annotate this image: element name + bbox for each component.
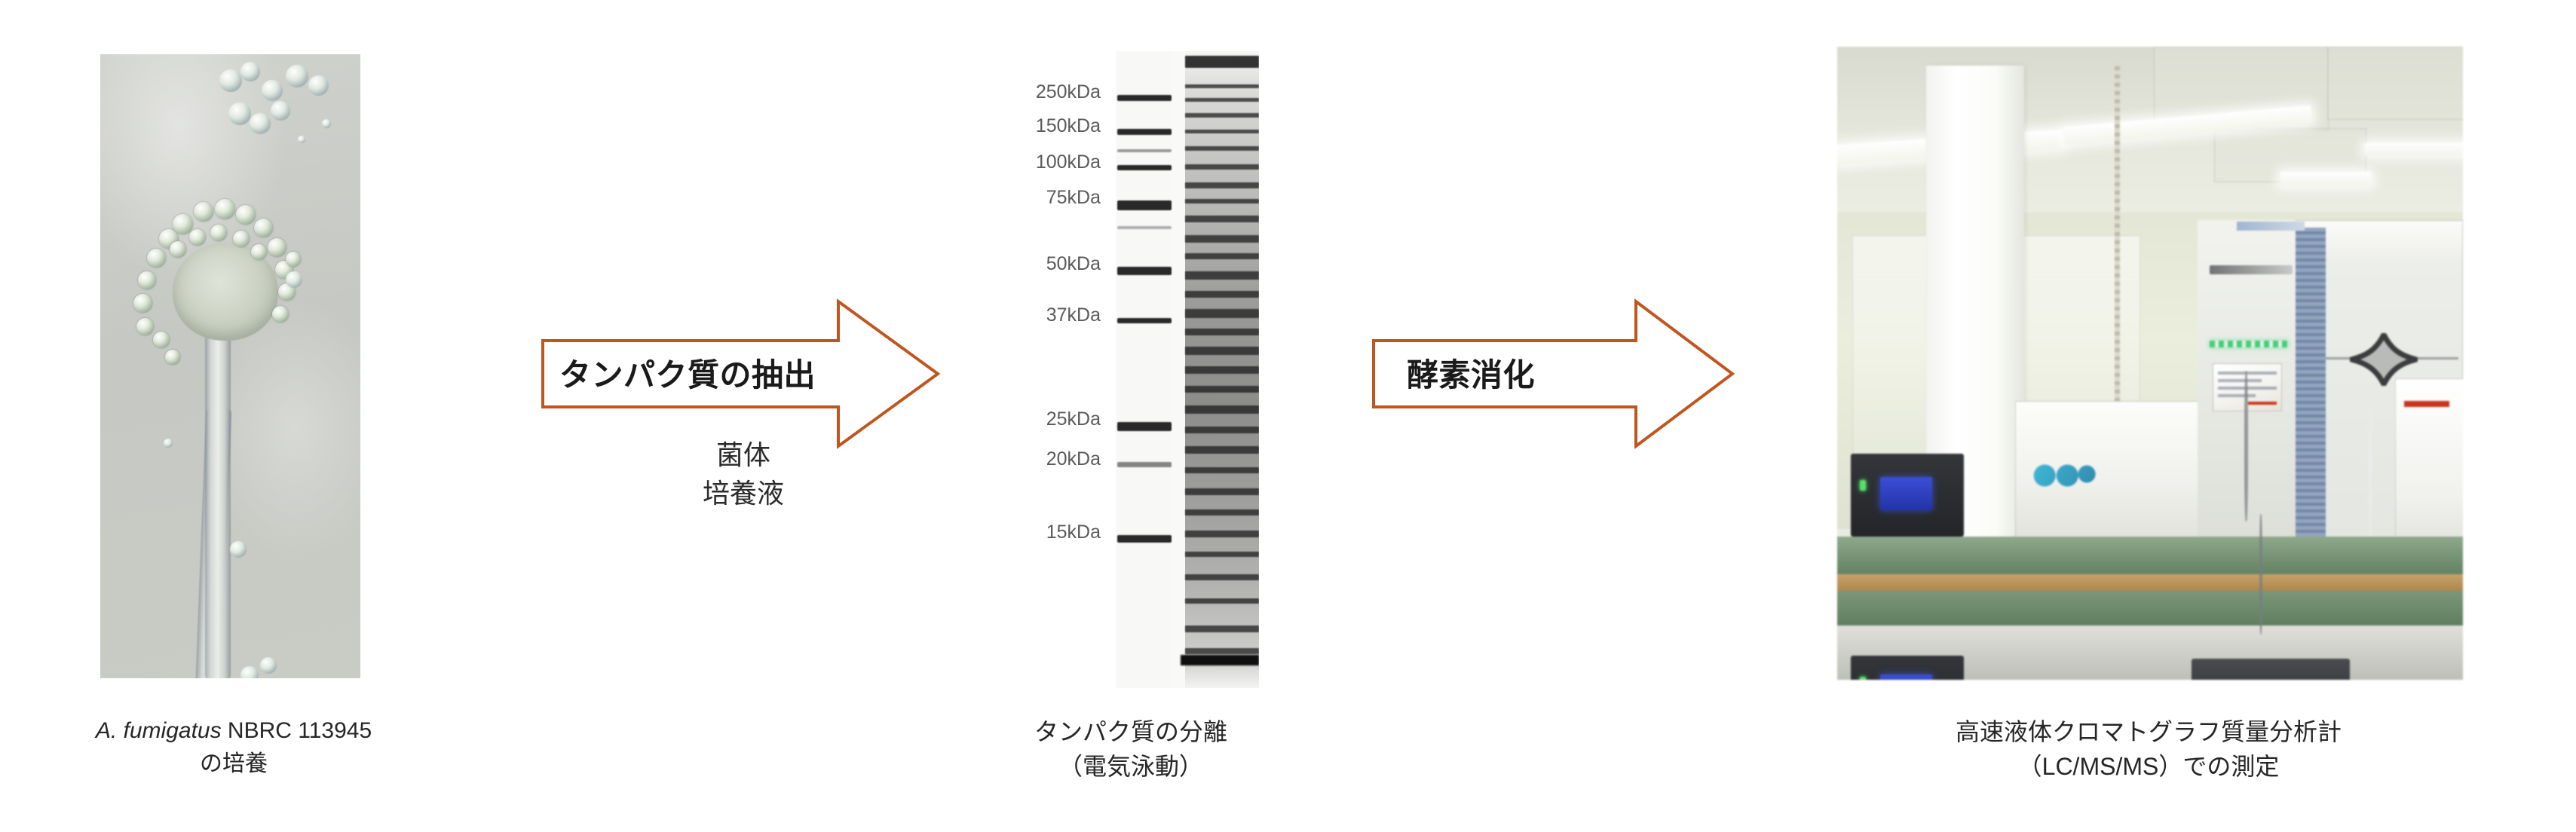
ladder-label: 50kDa <box>1046 253 1101 275</box>
conidium <box>233 231 250 247</box>
gel-image <box>1116 51 1259 688</box>
caption-step-2-line2: （電気泳動） <box>931 749 1331 784</box>
caption-step-3: 高速液体クロマトグラフ質量分析計 （LC/MS/MS）での測定 <box>1794 714 2503 785</box>
caption-step-1-line2: の培養 <box>0 748 467 781</box>
conidium <box>147 249 166 268</box>
conidium <box>210 225 227 241</box>
lc-pump-module <box>1851 454 1964 537</box>
strain-number: NBRC 113945 <box>222 718 372 743</box>
conidium <box>170 241 186 258</box>
free-conidium <box>286 65 308 87</box>
conidium <box>194 202 213 222</box>
conidium <box>136 318 154 335</box>
caption-step-1: A. fumigatus NBRC 113945 の培養 <box>0 714 467 780</box>
ladder-label: 150kDa <box>1036 115 1101 137</box>
conidiophore-stalk-upper <box>205 303 231 678</box>
conidium <box>236 205 256 225</box>
caption-step-2: タンパク質の分離 （電気泳動） <box>931 714 1331 785</box>
instrument-logo <box>2032 457 2097 488</box>
conidium <box>268 238 286 257</box>
arrow-1-label: タンパク質の抽出 <box>559 350 816 396</box>
capillary-tubing <box>2369 401 2372 537</box>
lc-pump-module <box>1851 656 1964 680</box>
free-conidium <box>262 80 283 101</box>
lcmsms-instrument-photo <box>1837 47 2463 680</box>
hanging-cable <box>2115 62 2120 416</box>
ladder-label: 37kDa <box>1046 304 1101 326</box>
free-conidium <box>286 271 302 288</box>
free-conidium <box>298 136 305 143</box>
capillary-tubing <box>2259 514 2262 635</box>
figure-canvas: A. fumigatus NBRC 113945 の培養 タンパク質の抽出 菌体… <box>0 0 2576 832</box>
free-conidium <box>260 657 277 674</box>
gel-lane-sample <box>1185 51 1259 688</box>
mass-spectrometer-status-leds <box>2210 341 2288 347</box>
conidium <box>251 244 267 260</box>
caption-step-3-line1: 高速液体クロマトグラフ質量分析計 <box>1794 714 2503 749</box>
conidium <box>133 294 152 313</box>
capillary-tubing <box>2244 371 2248 522</box>
ladder-label: 250kDa <box>1036 81 1101 103</box>
free-conidium <box>271 101 290 121</box>
caption-step-1-line1: A. fumigatus NBRC 113945 <box>0 714 467 748</box>
caption-step-3-line2: （LC/MS/MS）での測定 <box>1794 749 2503 784</box>
ceiling-light <box>2365 143 2463 155</box>
brand-accent-bar <box>2404 401 2449 407</box>
ceiling-light <box>2280 172 2371 185</box>
conidium <box>138 271 156 289</box>
free-conidium <box>164 439 173 448</box>
ladder-label: 75kDa <box>1046 187 1101 209</box>
micrograph-aspergillus-conidiophore <box>100 54 360 678</box>
lower-instrument <box>2192 659 2350 680</box>
free-conidium <box>308 75 329 96</box>
ladder-label: 20kDa <box>1046 448 1101 470</box>
gel-lane-marker <box>1117 51 1172 688</box>
conidium <box>173 214 193 234</box>
mass-spectrometer-vent-stripe <box>2296 228 2326 589</box>
free-conidium <box>228 102 251 125</box>
species-name: A. fumigatus <box>96 718 222 743</box>
conidium <box>189 229 206 246</box>
mass-spectrometer-top-tag <box>2237 222 2305 231</box>
conidium <box>215 199 235 219</box>
arrow-protein-extraction: タンパク質の抽出 <box>540 298 947 449</box>
free-conidium <box>250 113 271 134</box>
caption-step-2-line1: タンパク質の分離 <box>931 714 1331 749</box>
ladder-label: 15kDa <box>1046 522 1101 543</box>
free-conidium <box>219 69 242 92</box>
bench-lower-surface <box>1837 591 2463 627</box>
arrow-enzymatic-digestion: 酵素消化 <box>1371 298 1740 449</box>
conidium <box>153 332 170 348</box>
arrow-2-label: 酵素消化 <box>1407 350 1535 396</box>
free-conidium <box>230 541 247 558</box>
conidium <box>165 350 180 365</box>
conidium <box>272 306 289 323</box>
mass-spectrometer-brand-text <box>2210 265 2293 274</box>
sds-page-gel-panel: 250kDa 150kDa 100kDa 75kDa 50kDa 37kDa 2… <box>980 45 1282 693</box>
arrow-1-sublabels: 菌体 培養液 <box>653 436 834 512</box>
ladder-label: 100kDa <box>1036 151 1101 173</box>
conidium <box>286 252 301 267</box>
ladder-label: 25kDa <box>1046 408 1101 430</box>
free-conidium <box>240 62 260 81</box>
arrow-1-sublabel-0: 菌体 <box>653 436 834 474</box>
arrow-1-sublabel-1: 培養液 <box>653 474 834 512</box>
free-conidium <box>322 119 331 128</box>
conidium <box>254 219 273 237</box>
gel-dye-front-band <box>1181 655 1259 665</box>
